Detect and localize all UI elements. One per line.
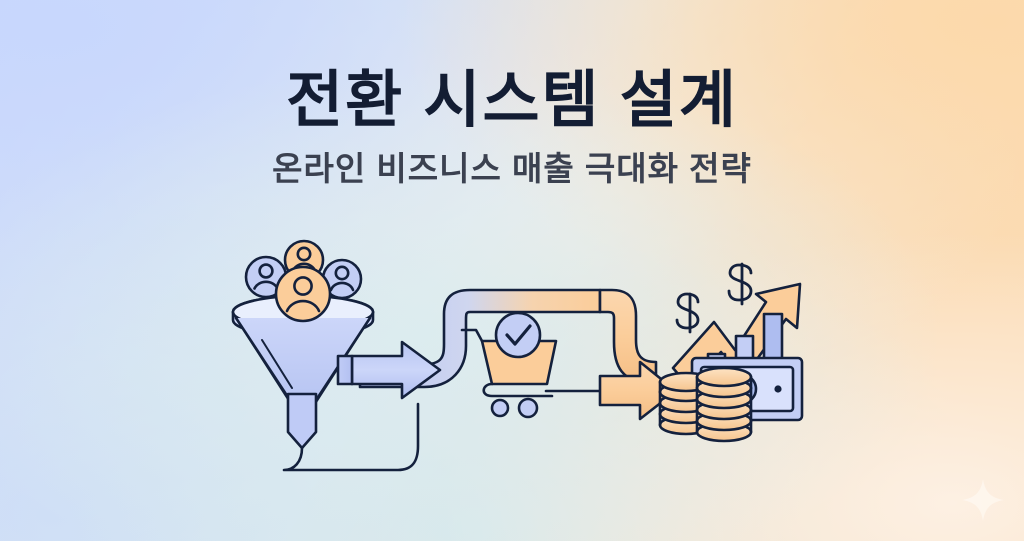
header: 전환 시스템 설계 온라인 비즈니스 매출 극대화 전략 — [0, 0, 1024, 187]
conversion-flow-illustration — [0, 236, 1024, 496]
page-subtitle: 온라인 비즈니스 매출 극대화 전략 — [0, 151, 1024, 187]
arrow-head-blue-small-icon — [338, 356, 352, 384]
arrow-right-blue-icon — [352, 342, 440, 398]
dollar-sign-left-icon — [677, 294, 698, 332]
avatar-orange-main — [276, 267, 330, 321]
dollar-sign-right-icon — [729, 264, 751, 304]
sparkle-icon — [960, 477, 1006, 523]
page-title: 전환 시스템 설계 — [0, 68, 1024, 133]
coin-stack-right-icon — [697, 368, 751, 441]
shopping-cart-check-icon — [462, 313, 556, 417]
